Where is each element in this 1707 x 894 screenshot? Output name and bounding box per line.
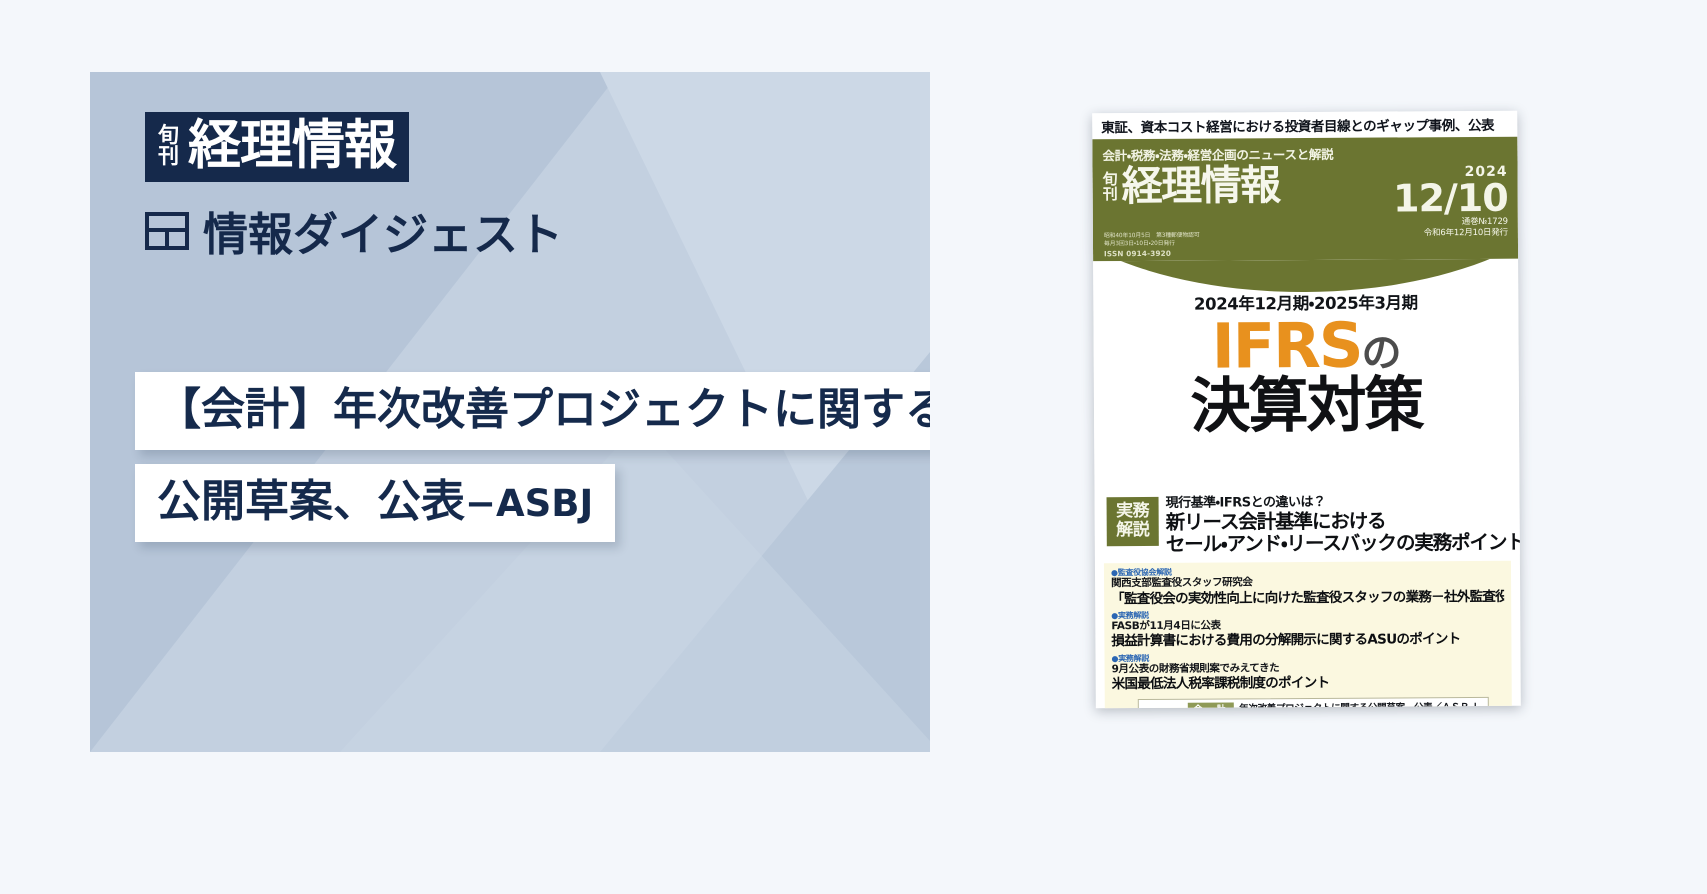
cover-news-box: news 会 計 年次改善プロジェクトに関する公開草案、公表／ＡＳＢＪ 会 計 … <box>1138 696 1489 708</box>
list-item: ●実務解説 9月公表の財務省規則案でみえてきた 米国最低法人税率課税制度のポイン… <box>1111 651 1504 692</box>
cover-masthead-title-group: 旬 刊 経理情報 <box>1103 165 1280 207</box>
cover-masthead-row: 旬 刊 経理情報 2024 12/10 通巻№1729 令和6年12月10日発行 <box>1103 164 1508 241</box>
news-tag: 会 計 <box>1188 702 1234 708</box>
cover-feature-inner: 2024年12月期・2025年3月期 IFRSの 決算対策 <box>1093 259 1519 437</box>
practice-text: 現行基準・IFRSとの違いは？ 新リース会計基準における セール・アンド・リース… <box>1166 495 1510 557</box>
headline-line-1: 【会計】年次改善プロジェクトに関する <box>135 372 930 450</box>
headline-line-2-ja: 公開草案、公表 <box>157 476 465 527</box>
cover-issue-publish-date: 令和6年12月10日発行 <box>1393 227 1508 238</box>
news-rows: 会 計 年次改善プロジェクトに関する公開草案、公表／ＡＳＢＪ 会 計 適用基準案… <box>1188 700 1483 708</box>
list-item: ●実務解説 FASBが11月4日に公表 損益計算書における費用の分解開示に関する… <box>1111 608 1504 649</box>
brand-lockup: 旬 刊 経理情報 情報ダイジェスト <box>145 112 765 263</box>
article-title: 「監査役会の実効性向上に向けた監査役スタッフの業務－社外監査役の活動及び三様監査… <box>1111 588 1504 607</box>
article-title: 損益計算書における費用の分解開示に関するASUのポイント <box>1111 631 1504 650</box>
brand-masthead-prefix-line2: 刊 <box>158 146 179 167</box>
digest-icon <box>145 212 189 250</box>
cover-issn: ISSN 0914-3920 <box>1104 248 1200 259</box>
cover-masthead-prefix-line2: 刊 <box>1103 187 1118 202</box>
headline-line-2-latin: −ASBJ <box>465 482 593 525</box>
magazine-cover: 東証、資本コスト経営における投資者目線とのギャップ事例、公表 会計・税務・法務・… <box>1092 111 1521 709</box>
news-text: 年次改善プロジェクトに関する公開草案、公表／ＡＳＢＪ <box>1239 701 1478 709</box>
news-row: 会 計 年次改善プロジェクトに関する公開草案、公表／ＡＳＢＪ <box>1188 700 1483 708</box>
cover-feature-title: 決算対策 <box>1094 375 1519 438</box>
cover-issue-date-block: 2024 12/10 通巻№1729 令和6年12月10日発行 <box>1393 164 1508 239</box>
page-root: 旬 刊 経理情報 情報ダイジェスト 【会計】年次改善プロジェクトに関する 公開草… <box>0 0 1707 894</box>
brand-masthead-prefix: 旬 刊 <box>158 125 179 166</box>
practice-badge: 実務 解説 <box>1107 497 1159 546</box>
headline-group: 【会計】年次改善プロジェクトに関する 公開草案、公表−ASBJ <box>135 372 930 542</box>
headline-line-2: 公開草案、公表−ASBJ <box>135 464 615 542</box>
cover-masthead-title: 経理情報 <box>1122 165 1280 207</box>
cover-feature-area: 2024年12月期・2025年3月期 IFRSの 決算対策 <box>1093 259 1519 494</box>
practice-badge-line2: 解説 <box>1107 521 1159 540</box>
cover-practice-block: 実務 解説 現行基準・IFRSとの違いは？ 新リース会計基準における セール・ア… <box>1095 491 1520 557</box>
cover-imprint: 昭和40年10月5日 第3種郵便物認可 毎月3回3日・10日・20日発行 ISS… <box>1104 231 1200 259</box>
brand-subtitle: 情報ダイジェスト <box>145 198 765 263</box>
practice-badge-line1: 実務 <box>1107 502 1159 521</box>
cover-masthead-prefix: 旬 刊 <box>1103 172 1118 202</box>
hero-panel: 旬 刊 経理情報 情報ダイジェスト 【会計】年次改善プロジェクトに関する 公開草… <box>90 72 930 752</box>
list-item: ●監査役協会解説 関西支部監査役スタッフ研究会 「監査役会の実効性向上に向けた監… <box>1111 566 1504 607</box>
brand-masthead-title: 経理情報 <box>188 119 396 173</box>
brand-masthead: 旬 刊 経理情報 <box>145 112 409 182</box>
cover-feature-ifrs: IFRSの <box>1093 316 1518 377</box>
cover-issue-date: 12/10 <box>1393 179 1508 218</box>
article-title: 米国最低法人税率課税制度のポイント <box>1112 674 1505 693</box>
cover-article-list: ●監査役協会解説 関西支部監査役スタッフ研究会 「監査役会の実効性向上に向けた監… <box>1104 561 1512 709</box>
cover-top-banner: 東証、資本コスト経営における投資者目線とのギャップ事例、公表 <box>1092 111 1517 140</box>
practice-title-line2: セール・アンド・リースバックの実務ポイント <box>1166 532 1510 557</box>
brand-subtitle-label: 情報ダイジェスト <box>203 198 563 263</box>
cover-imprint-line1: 昭和40年10月5日 第3種郵便物認可 <box>1104 231 1200 240</box>
cover-masthead: 会計・税務・法務・経営企画のニュースと解説 旬 刊 経理情報 2024 12/1… <box>1092 137 1518 262</box>
news-label: news <box>1144 702 1182 708</box>
brand-masthead-prefix-line1: 旬 <box>158 125 179 146</box>
